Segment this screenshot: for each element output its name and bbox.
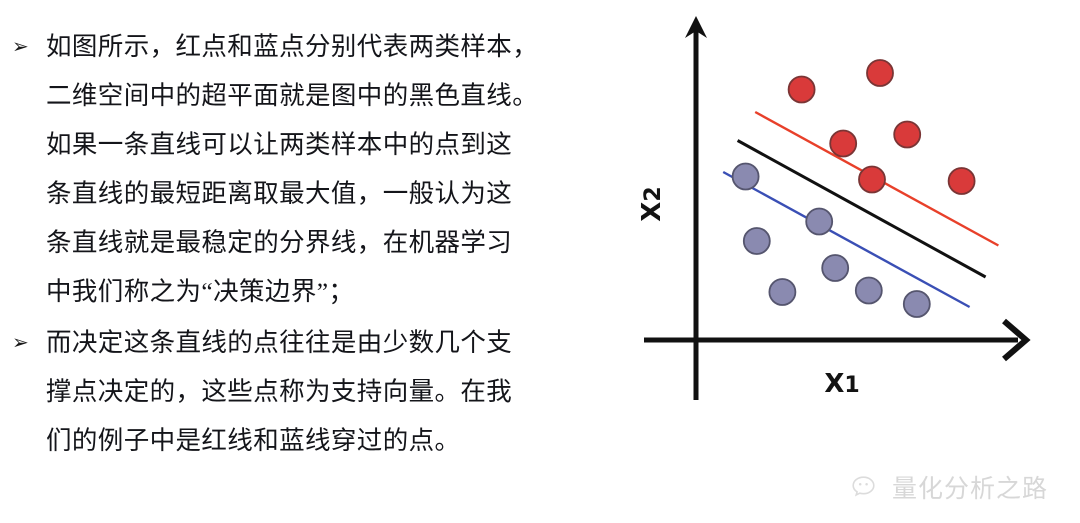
data-point (856, 278, 882, 304)
data-point (949, 168, 975, 194)
svm-scatter-diagram: X2X1 (626, 8, 1046, 408)
data-point (859, 167, 885, 193)
bullet-arrow-icon: ➢ (0, 22, 46, 71)
series-0 (789, 60, 975, 194)
bullet-paragraph-1: ➢ 如图所示，红点和蓝点分别代表两类样本， 二维空间中的超平面就是图中的黑色直线… (0, 22, 620, 316)
bullet-paragraph-2: ➢ 而决定这条直线的点往往是由少数几个支 撑点决定的，这些点称为支持向量。在我 … (0, 318, 620, 465)
paragraph-1-text: 如图所示，红点和蓝点分别代表两类样本， 二维空间中的超平面就是图中的黑色直线。 … (46, 22, 620, 316)
separating-lines-layer (723, 112, 998, 307)
data-point (733, 164, 759, 190)
data-point (830, 131, 856, 157)
watermark-text: 量化分析之路 (892, 476, 1048, 501)
slide-canvas: ➢ 如图所示，红点和蓝点分别代表两类样本， 二维空间中的超平面就是图中的黑色直线… (0, 0, 1080, 523)
data-point (806, 209, 832, 235)
data-point (789, 77, 815, 103)
chart-svg: X2X1 (626, 8, 1046, 408)
data-point (769, 279, 795, 305)
bullet-arrow-icon: ➢ (0, 318, 46, 367)
x-axis-label: X1 (824, 369, 859, 399)
paragraph-2-text: 而决定这条直线的点往往是由少数几个支 撑点决定的，这些点称为支持向量。在我 们的… (46, 318, 620, 465)
data-point (822, 255, 848, 281)
data-point (867, 60, 893, 86)
data-point (744, 228, 770, 254)
axes-layer (644, 16, 1026, 400)
data-points-layer (733, 60, 975, 317)
text-column: ➢ 如图所示，红点和蓝点分别代表两类样本， 二维空间中的超平面就是图中的黑色直线… (0, 22, 620, 482)
decision-boundary-black (738, 141, 986, 278)
series-1 (733, 164, 930, 318)
data-point (904, 291, 930, 317)
data-point (894, 122, 920, 148)
watermark: 量化分析之路 (852, 475, 1048, 501)
wechat-bubble-icon (852, 475, 882, 501)
y-axis-label: X2 (637, 186, 667, 221)
